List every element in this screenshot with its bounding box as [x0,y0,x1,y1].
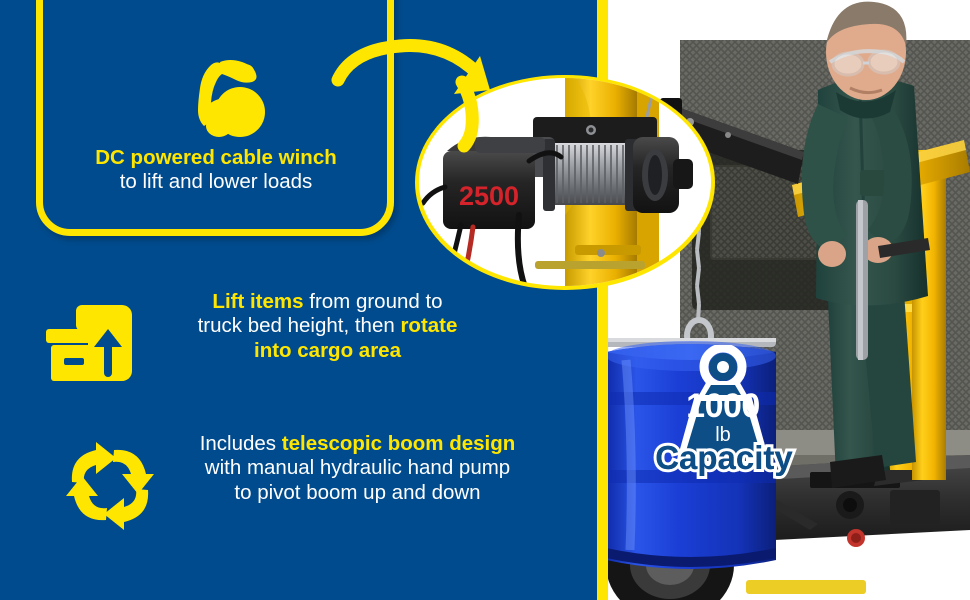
capacity-label: Capacity [651,441,797,474]
boom-line-3: to pivot boom up and down [150,481,565,505]
lift-line-1: Lift items from ground to [140,290,515,314]
lift-line-2: truck bed height, then rotate [140,314,515,338]
infographic-canvas: 2500 DC powered cable winch to lift and … [0,0,970,600]
lift-line-3: into cargo area [140,339,515,363]
boom-line-2: with manual hydraulic hand pump [150,456,565,480]
rotate-arrows-icon [62,438,158,530]
feature-text-boom: Includes telescopic boom design with man… [150,432,565,505]
winch-line-2: to lift and lower loads [30,170,402,194]
box-lift-arrow-icon [46,303,134,383]
feature-text-lift: Lift items from ground to truck bed heig… [140,290,515,363]
winch-model-number: 2500 [459,181,519,211]
boom-line-1: Includes telescopic boom design [150,432,565,456]
curved-pointer-arrow [330,28,520,168]
capacity-badge: 1000 lb Capacity Capacity [655,345,791,487]
flexed-bicep-icon [186,58,268,142]
